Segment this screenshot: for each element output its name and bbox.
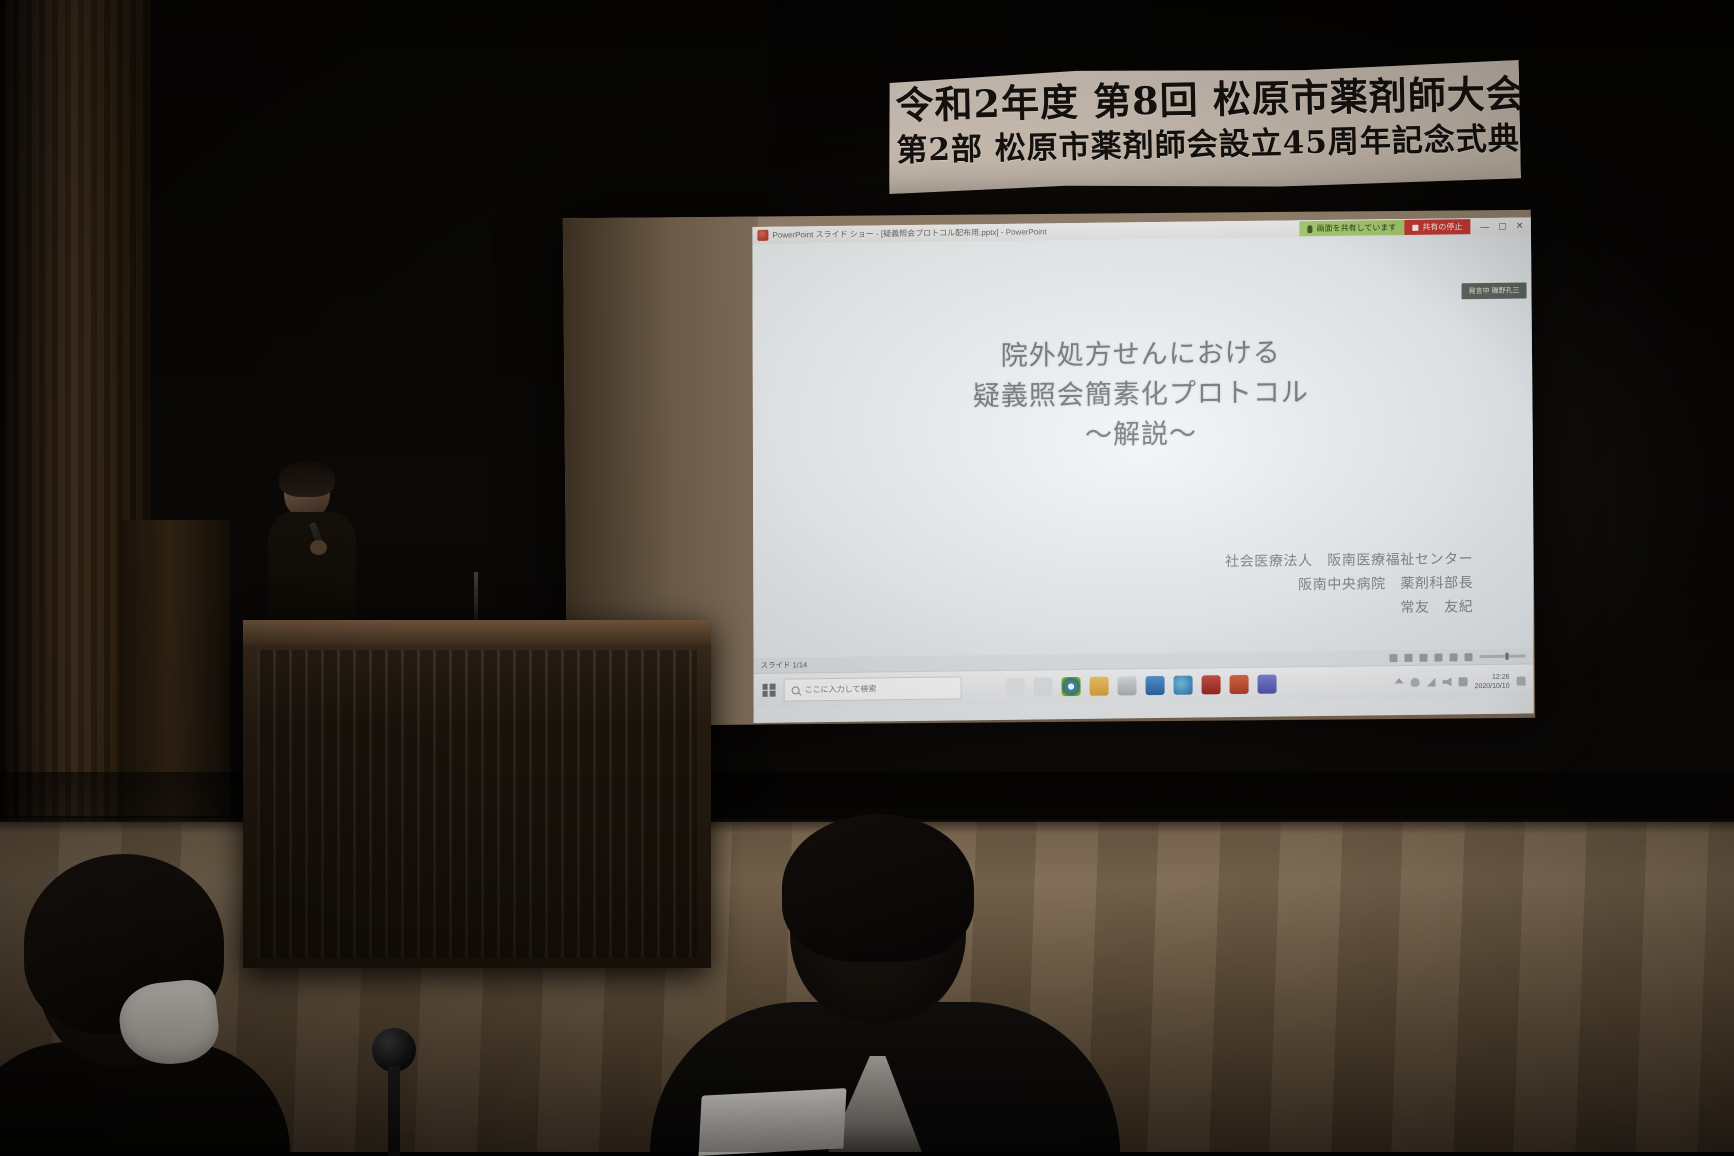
minimize-button[interactable]: — bbox=[1480, 221, 1489, 231]
slide-counter: スライド 1/14 bbox=[754, 659, 808, 671]
clock-time: 12:26 bbox=[1475, 672, 1510, 681]
powerpoint-window-title: PowerPoint スライド ショー - [疑義照会プロトコル配布用.pptx… bbox=[772, 226, 1046, 240]
store-icon[interactable] bbox=[1118, 676, 1137, 695]
window-controls: — ▢ ✕ bbox=[1470, 220, 1532, 232]
presenter-figure bbox=[266, 466, 362, 634]
file-explorer-icon[interactable] bbox=[1090, 677, 1109, 696]
foreground-microphone bbox=[372, 1028, 418, 1152]
slide-author-line-1: 社会医療法人 阪南医療福祉センター bbox=[1225, 547, 1473, 574]
slide-title: 院外処方せんにおける 疑義照会簡素化プロトコル 〜解説〜 bbox=[753, 330, 1529, 459]
chrome-icon[interactable] bbox=[1062, 677, 1081, 696]
taskbar-clock[interactable]: 12:26 2020/10/10 bbox=[1475, 672, 1510, 690]
search-placeholder: ここに入力して検索 bbox=[805, 683, 877, 695]
podium bbox=[243, 620, 711, 968]
search-input[interactable]: ここに入力して検索 bbox=[784, 676, 962, 701]
audience-laptop bbox=[699, 1088, 847, 1156]
slide-title-line-3: 〜解説〜 bbox=[753, 410, 1529, 459]
titlebar-spacer bbox=[1047, 229, 1300, 232]
clock-date: 2020/10/10 bbox=[1475, 681, 1510, 690]
microphone-body bbox=[388, 1066, 400, 1156]
stop-sharing-button[interactable]: 共有の停止 bbox=[1404, 219, 1470, 235]
screen-share-notice-label: 画面を共有しています bbox=[1317, 222, 1397, 234]
task-view-icon[interactable] bbox=[1034, 677, 1053, 696]
powerpoint-slide[interactable]: 院外処方せんにおける 疑義照会簡素化プロトコル 〜解説〜 社会医療法人 阪南医療… bbox=[752, 234, 1533, 658]
ime-icon[interactable] bbox=[1459, 677, 1468, 686]
taskbar-app-icons bbox=[1006, 675, 1277, 697]
mail-icon[interactable] bbox=[1146, 676, 1165, 695]
microphone-icon bbox=[1308, 225, 1313, 233]
search-icon bbox=[792, 686, 800, 694]
stop-square-icon bbox=[1412, 224, 1418, 230]
auditorium-scene: 令和2年度 第8回 松原市薬剤師大会 第2部 松原市薬剤師会設立45周年記念式典… bbox=[0, 0, 1734, 1152]
system-tray: 12:26 2020/10/10 bbox=[1395, 672, 1534, 692]
slide-author-line-2: 阪南中央病院 薬剤科部長 bbox=[1225, 571, 1473, 598]
volume-icon[interactable] bbox=[1443, 677, 1452, 686]
slideshow-icon[interactable] bbox=[1465, 653, 1473, 661]
notes-icon[interactable] bbox=[1390, 654, 1398, 662]
comments-icon[interactable] bbox=[1405, 653, 1413, 661]
action-center-icon[interactable] bbox=[1517, 677, 1526, 686]
zoom-slider[interactable] bbox=[1480, 655, 1526, 659]
normal-view-icon[interactable] bbox=[1420, 653, 1428, 661]
sorter-view-icon[interactable] bbox=[1435, 653, 1443, 661]
statusbar-right-group bbox=[1390, 652, 1534, 662]
maximize-button[interactable]: ▢ bbox=[1498, 221, 1507, 232]
edge-icon[interactable] bbox=[1174, 676, 1193, 695]
projected-windows-desktop: PowerPoint スライド ショー - [疑義照会プロトコル配布用.pptx… bbox=[752, 217, 1533, 723]
reading-view-icon[interactable] bbox=[1450, 653, 1458, 661]
onedrive-icon[interactable] bbox=[1411, 678, 1420, 687]
audience-right-hair bbox=[782, 814, 974, 962]
windows-start-icon[interactable] bbox=[754, 674, 784, 707]
powerpoint-icon[interactable] bbox=[1230, 675, 1249, 694]
show-hidden-icons-icon[interactable] bbox=[1395, 678, 1404, 687]
slide-author-line-3: 常友 友紀 bbox=[1225, 595, 1473, 622]
teams-icon[interactable] bbox=[1258, 675, 1277, 694]
screen-share-notice: 画面を共有しています bbox=[1300, 220, 1405, 236]
network-icon[interactable] bbox=[1427, 678, 1436, 687]
presenter-hand bbox=[310, 540, 327, 555]
active-speaker-badge: 発言中 磯野孔三 bbox=[1462, 282, 1527, 299]
event-banner: 令和2年度 第8回 松原市薬剤師大会 第2部 松原市薬剤師会設立45周年記念式典 bbox=[887, 60, 1521, 194]
stop-sharing-label: 共有の停止 bbox=[1422, 221, 1462, 232]
presenter-hair bbox=[279, 461, 335, 497]
slide-author-block: 社会医療法人 阪南医療福祉センター 阪南中央病院 薬剤科部長 常友 友紀 bbox=[1225, 547, 1473, 622]
audience-member-left bbox=[0, 822, 250, 1152]
powerpoint-icon bbox=[757, 230, 768, 241]
cortana-icon[interactable] bbox=[1006, 678, 1025, 697]
close-button[interactable]: ✕ bbox=[1516, 221, 1524, 232]
acrobat-icon[interactable] bbox=[1202, 675, 1221, 694]
